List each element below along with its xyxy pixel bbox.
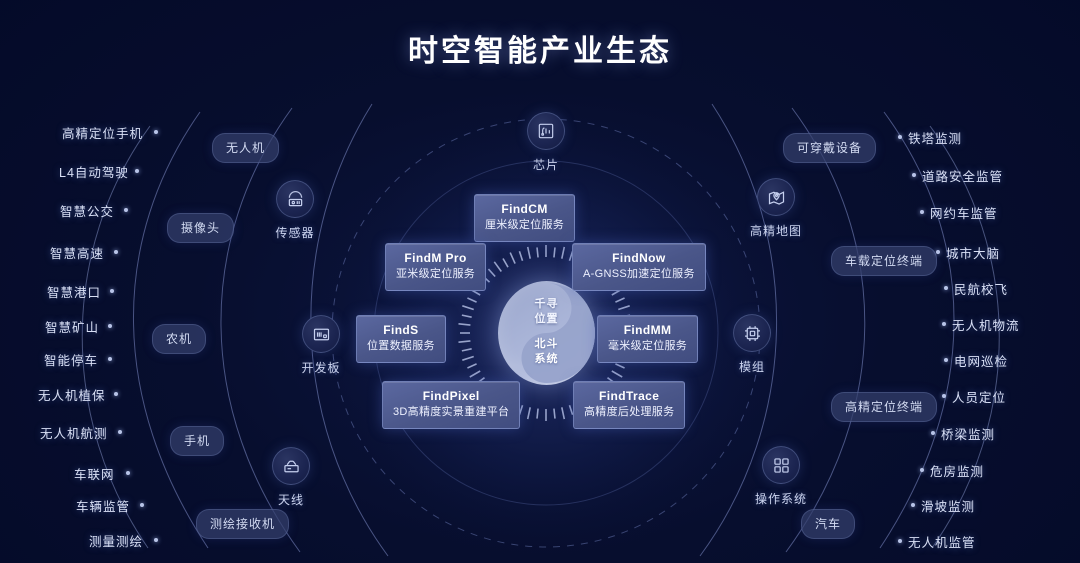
service-box-findnow[interactable]: FindNow A-GNSS加速定位服务 [572,243,706,291]
node-label: 操作系统 [739,490,823,507]
leaf-dot [126,471,130,475]
leaf-right-9[interactable]: 危房监测 [930,461,984,480]
service-desc: 厘米级定位服务 [485,218,564,233]
ecosystem-diagram: 时空智能产业生态 千寻 位置 北斗 系统 FindCM 厘米级定位服务 Find… [0,0,1080,563]
map-pin-icon [757,178,795,216]
leaf-right-7[interactable]: 人员定位 [952,387,1006,406]
leaf-right-6[interactable]: 电网巡检 [954,351,1008,370]
leaf-dot [898,539,902,543]
service-box-findcm[interactable]: FindCM 厘米级定位服务 [474,194,575,242]
leaf-right-8[interactable]: 桥梁监测 [941,424,995,443]
node-chip[interactable]: 芯片 [509,112,583,173]
node-antenna[interactable]: 天线 [252,447,330,508]
leaf-dot [944,358,948,362]
pill-high-precision-terminal[interactable]: 高精定位终端 [831,392,937,422]
leaf-left-2[interactable]: 智慧公交 [60,201,114,220]
leaf-dot [154,130,158,134]
leaf-dot [920,468,924,472]
leaf-left-11[interactable]: 测量测绘 [89,531,143,550]
leaf-right-4[interactable]: 民航校飞 [954,279,1008,298]
pill-vehicle-positioning-terminal[interactable]: 车载定位终端 [831,246,937,276]
service-name: FindS [367,323,435,338]
leaf-dot [936,250,940,254]
leaf-left-7[interactable]: 无人机植保 [38,385,106,404]
leaf-dot [912,173,916,177]
leaf-left-1[interactable]: L4自动驾驶 [59,162,129,181]
core-bottom-line1: 北斗 [535,338,559,350]
leaf-dot [931,431,935,435]
node-operating-system[interactable]: 操作系统 [739,446,823,507]
leaf-dot [110,289,114,293]
core-top-line1: 千寻 [535,298,559,310]
leaf-left-8[interactable]: 无人机航测 [40,423,108,442]
node-label: 模组 [713,358,791,375]
service-desc: 3D高精度实景重建平台 [393,405,509,420]
service-name: FindM Pro [396,251,475,266]
service-box-findpixel[interactable]: FindPixel 3D高精度实景重建平台 [382,381,520,429]
node-hd-map[interactable]: 高精地图 [734,178,818,239]
service-desc: A-GNSS加速定位服务 [583,267,695,282]
leaf-dot [108,324,112,328]
pill-wearable-device[interactable]: 可穿戴设备 [783,133,876,163]
leaf-dot [118,430,122,434]
leaf-dot [135,169,139,173]
core-top-label: 千寻 位置 [498,297,595,327]
leaf-dot [124,208,128,212]
leaf-left-6[interactable]: 智能停车 [44,350,98,369]
pill-agricultural-machinery[interactable]: 农机 [152,324,206,354]
core-top-line2: 位置 [535,313,559,325]
service-desc: 位置数据服务 [367,339,435,354]
leaf-right-11[interactable]: 无人机监管 [908,532,976,551]
leaf-dot [114,392,118,396]
core-bottom-line2: 系统 [535,353,559,365]
leaf-dot [911,503,915,507]
core-bottom-label: 北斗 系统 [498,337,595,367]
pill-mobile-phone[interactable]: 手机 [170,426,224,456]
service-desc: 毫米级定位服务 [608,339,687,354]
pill-camera[interactable]: 摄像头 [167,213,234,243]
node-dev-board[interactable]: 开发板 [282,315,360,376]
dev-board-icon [302,315,340,353]
service-box-findtrace[interactable]: FindTrace 高精度后处理服务 [573,381,685,429]
leaf-dot [140,503,144,507]
leaf-dot [920,210,924,214]
chip-icon [527,112,565,150]
grid-squares-icon [762,446,800,484]
leaf-left-5[interactable]: 智慧矿山 [45,317,99,336]
leaf-dot [154,538,158,542]
pill-survey-receiver[interactable]: 测绘接收机 [196,509,289,539]
leaf-left-10[interactable]: 车辆监管 [76,496,130,515]
leaf-left-4[interactable]: 智慧港口 [47,282,101,301]
leaf-left-3[interactable]: 智慧高速 [50,243,104,262]
service-name: FindPixel [393,389,509,404]
service-name: FindMM [608,323,687,338]
node-label: 芯片 [509,156,583,173]
leaf-dot [944,286,948,290]
leaf-dot [942,322,946,326]
service-box-findmpro[interactable]: FindM Pro 亚米级定位服务 [385,243,486,291]
service-box-finds[interactable]: FindS 位置数据服务 [356,315,446,363]
service-desc: 高精度后处理服务 [584,405,674,420]
node-label: 天线 [252,491,330,508]
node-label: 开发板 [282,359,360,376]
page-title: 时空智能产业生态 [0,26,1080,70]
pill-drone[interactable]: 无人机 [212,133,279,163]
leaf-dot [942,394,946,398]
leaf-left-9[interactable]: 车联网 [74,464,115,483]
leaf-right-5[interactable]: 无人机物流 [952,315,1020,334]
leaf-dot [108,357,112,361]
module-chip-icon [733,314,771,352]
antenna-icon [272,447,310,485]
pill-automobile[interactable]: 汽车 [801,509,855,539]
service-name: FindCM [485,202,564,217]
sensor-icon [276,180,314,218]
leaf-dot [898,135,902,139]
node-label: 传感器 [256,224,334,241]
leaf-right-2[interactable]: 网约车监管 [930,203,998,222]
leaf-right-1[interactable]: 道路安全监管 [922,166,1003,185]
service-desc: 亚米级定位服务 [396,267,475,282]
leaf-left-0[interactable]: 高精定位手机 [62,123,143,142]
service-name: FindTrace [584,389,674,404]
node-label: 高精地图 [734,222,818,239]
leaf-dot [114,250,118,254]
leaf-right-0[interactable]: 铁塔监测 [908,128,962,147]
leaf-right-10[interactable]: 滑坡监测 [921,496,975,515]
service-name: FindNow [583,251,695,266]
service-box-findmm[interactable]: FindMM 毫米级定位服务 [597,315,698,363]
node-module[interactable]: 模组 [713,314,791,375]
leaf-right-3[interactable]: 城市大脑 [946,243,1000,262]
node-sensor[interactable]: 传感器 [256,180,334,241]
core-logo: 千寻 位置 北斗 系统 [498,281,595,385]
